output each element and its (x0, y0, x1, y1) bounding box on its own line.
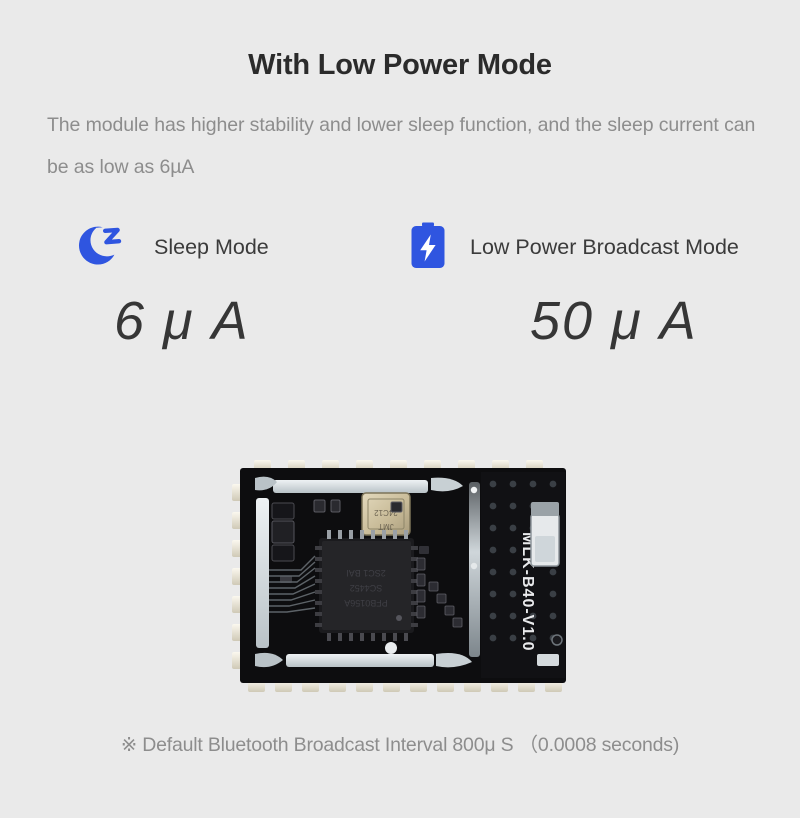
pcb-trace-bottom (286, 654, 434, 667)
mode-label-low-power: Low Power Broadcast Mode (470, 235, 739, 260)
page-subtitle: The module has higher stability and lowe… (47, 104, 765, 188)
pcb-test-point (385, 642, 397, 654)
mode-label-sleep: Sleep Mode (154, 235, 269, 260)
battery-bolt-icon (408, 221, 448, 273)
mode-header-sleep: Sleep Mode (72, 218, 402, 276)
svg-text:SC4452: SC4452 (350, 583, 383, 593)
mode-header-low-power: Low Power Broadcast Mode (408, 218, 778, 276)
svg-text:PFB0156A: PFB0156A (344, 598, 388, 608)
mode-value-low-power: 50 μ A (408, 290, 778, 352)
moon-z-icon (72, 221, 124, 273)
svg-text:2SC1 BAI: 2SC1 BAI (346, 568, 386, 578)
pcb-trace-top (273, 480, 428, 493)
pcb-ground-strip (469, 482, 480, 657)
mode-value-sleep: 6 μ A (72, 290, 402, 352)
page-title: With Low Power Mode (0, 49, 800, 82)
mode-block-sleep: Sleep Mode 6 μ A (72, 218, 402, 352)
pcb-trace-left (256, 498, 269, 648)
pcb-main-chip: 2SC1 BAI SC4452 PFB0156A (315, 530, 418, 641)
product-photo: MLK-B40-V1.0 24C12 JMT (231, 458, 575, 694)
pcb-crystal-marking-line1: JMT (378, 522, 394, 531)
mode-block-low-power: Low Power Broadcast Mode 50 μ A (408, 218, 778, 352)
footer-note: ※ Default Bluetooth Broadcast Interval 8… (0, 728, 800, 757)
power-modes-row: Sleep Mode 6 μ A Low Power Broadcast Mod… (0, 218, 800, 378)
pcb-module-illustration: MLK-B40-V1.0 24C12 JMT (231, 458, 575, 694)
pcb-crystal: 24C12 JMT (362, 493, 410, 535)
